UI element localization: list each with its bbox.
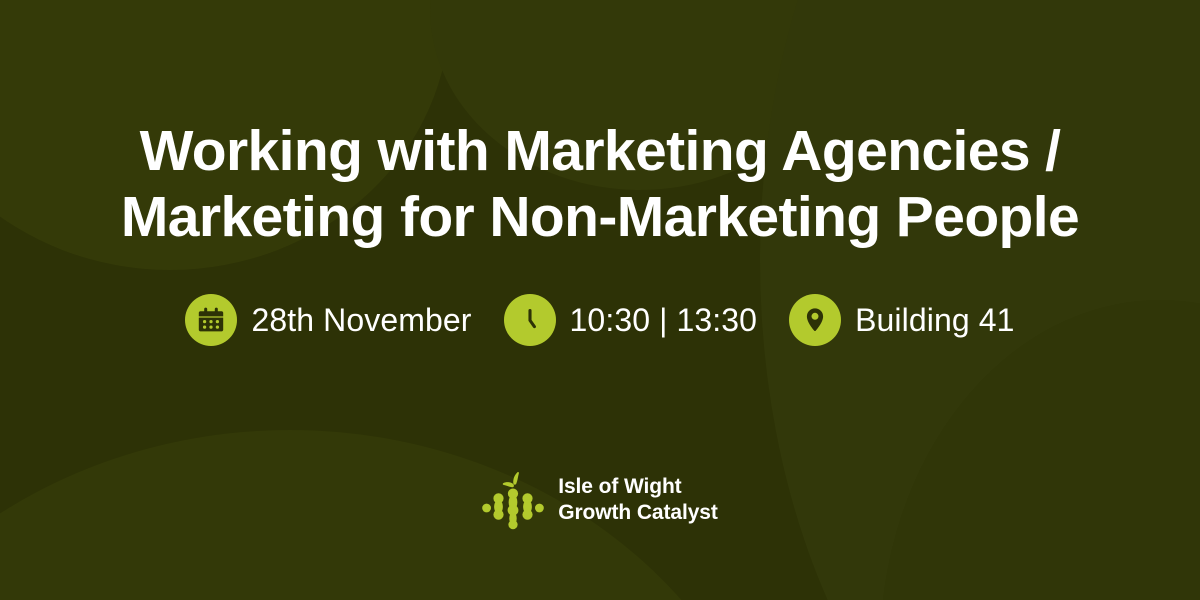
event-date-label: 28th November bbox=[251, 302, 471, 339]
event-location-label: Building 41 bbox=[855, 302, 1014, 339]
event-time-label: 10:30 | 13:30 bbox=[570, 302, 758, 339]
event-title-line-2: Marketing for Non-Marketing People bbox=[50, 184, 1150, 250]
event-details-row: 28th November 10:30 | 13:30 Building 41 bbox=[185, 294, 1014, 346]
event-detail-time: 10:30 | 13:30 bbox=[504, 294, 758, 346]
event-banner: Working with Marketing Agencies / Market… bbox=[0, 0, 1200, 600]
sprout-molecule-icon bbox=[482, 468, 544, 532]
event-detail-date: 28th November bbox=[185, 294, 471, 346]
organisation-name-line-2: Growth Catalyst bbox=[558, 500, 718, 526]
organisation-name-line-1: Isle of Wight bbox=[558, 474, 718, 500]
calendar-icon bbox=[185, 294, 237, 346]
event-title: Working with Marketing Agencies / Market… bbox=[50, 118, 1150, 250]
clock-icon bbox=[504, 294, 556, 346]
event-title-line-1: Working with Marketing Agencies / bbox=[50, 118, 1150, 184]
organisation-logo: Isle of Wight Growth Catalyst bbox=[0, 468, 1200, 532]
map-pin-icon bbox=[789, 294, 841, 346]
organisation-name: Isle of Wight Growth Catalyst bbox=[558, 474, 718, 525]
event-detail-location: Building 41 bbox=[789, 294, 1014, 346]
